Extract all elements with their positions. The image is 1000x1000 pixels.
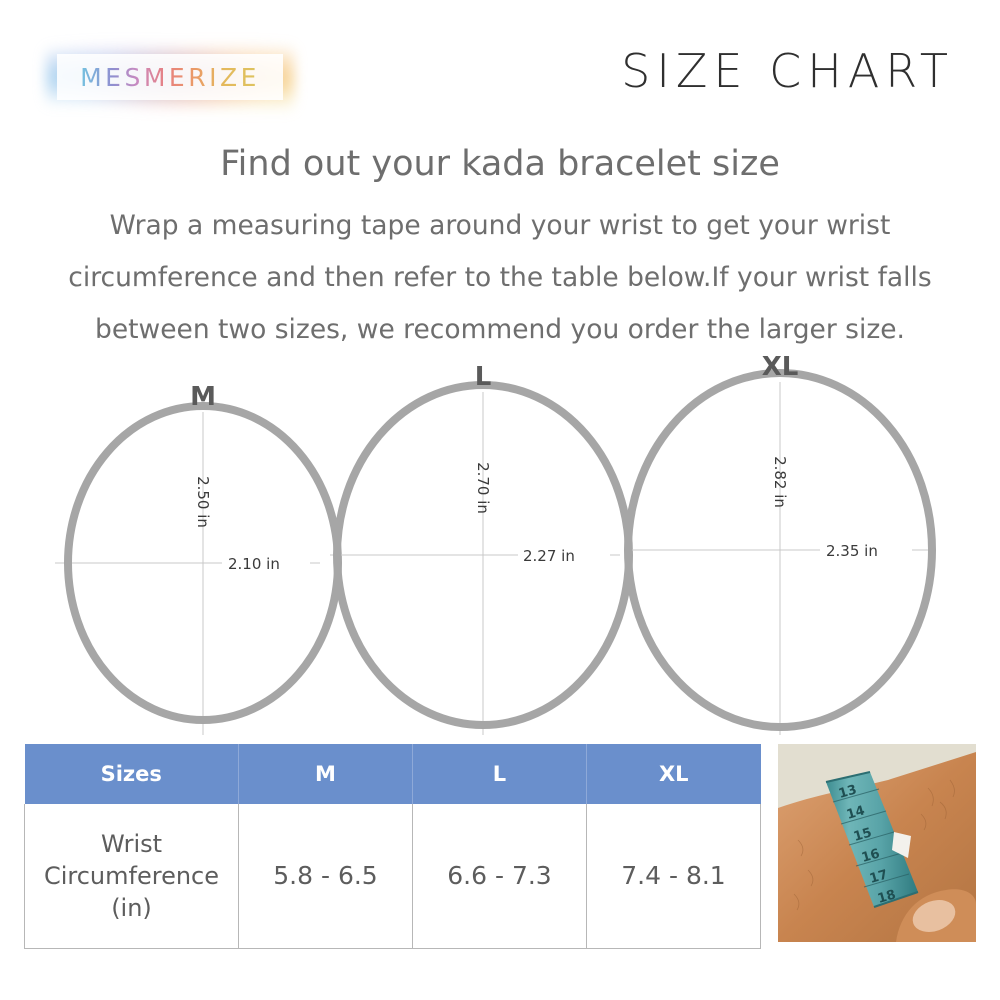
m-width-dimension: 2.10 in bbox=[228, 555, 280, 573]
size-diagrams: M 2.50 in 2.10 in L 2.70 in 2.27 in XL 2… bbox=[0, 350, 1000, 745]
m-height-dimension: 2.50 in bbox=[194, 476, 212, 528]
oval-label-l: L bbox=[475, 362, 492, 392]
l-height-dimension: 2.70 in bbox=[474, 462, 492, 514]
row-header-line-1: Wrist bbox=[26, 828, 237, 860]
wrist-measurement-photo: 13 14 15 16 17 18 bbox=[778, 744, 976, 942]
page-title: SIZE CHART bbox=[621, 44, 954, 98]
xl-height-dimension: 2.82 in bbox=[771, 456, 789, 508]
cell-wrist-xl: 7.4 - 8.1 bbox=[587, 804, 761, 949]
intro-paragraph: Wrap a measuring tape around your wrist … bbox=[50, 200, 950, 356]
oval-diagram-m: M 2.50 in 2.10 in bbox=[55, 382, 338, 735]
column-header-sizes: Sizes bbox=[25, 744, 239, 804]
column-header-l: L bbox=[413, 744, 587, 804]
cell-wrist-l: 6.6 - 7.3 bbox=[413, 804, 587, 949]
oval-diagram-xl: XL 2.82 in 2.35 in bbox=[625, 352, 932, 735]
column-header-m: M bbox=[239, 744, 413, 804]
oval-label-m: M bbox=[190, 382, 216, 412]
row-header-line-2: Circumference bbox=[26, 860, 237, 892]
xl-width-dimension: 2.35 in bbox=[826, 542, 878, 560]
logo-wordmark: MESMERIZE bbox=[80, 63, 260, 92]
column-header-xl: XL bbox=[587, 744, 761, 804]
table-header-row: Sizes M L XL bbox=[25, 744, 761, 804]
oval-diagram-l: L 2.70 in 2.27 in bbox=[330, 362, 629, 735]
oval-label-xl: XL bbox=[762, 352, 799, 382]
row-header-line-3: (in) bbox=[26, 892, 237, 924]
subtitle: Find out your kada bracelet size bbox=[0, 144, 1000, 184]
l-width-dimension: 2.27 in bbox=[523, 547, 575, 565]
brand-logo: MESMERIZE bbox=[46, 42, 294, 112]
row-header-wrist-circumference: Wrist Circumference (in) bbox=[25, 804, 239, 949]
logo-plate: MESMERIZE bbox=[57, 54, 283, 100]
size-chart-table: Sizes M L XL Wrist Circumference (in) 5.… bbox=[24, 744, 761, 949]
table-row: Wrist Circumference (in) 5.8 - 6.5 6.6 -… bbox=[25, 804, 761, 949]
cell-wrist-m: 5.8 - 6.5 bbox=[239, 804, 413, 949]
